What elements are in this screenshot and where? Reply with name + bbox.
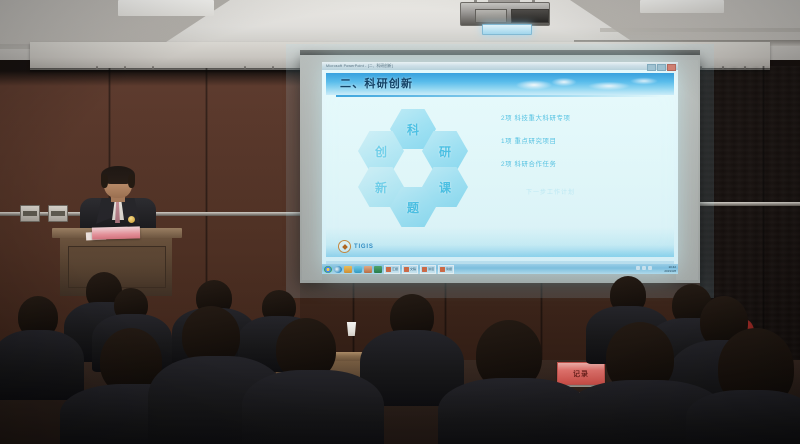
taskbar-task-label: 简报 (446, 267, 452, 271)
minimize-button[interactable] (647, 64, 656, 71)
system-tray[interactable] (636, 266, 652, 270)
window-controls[interactable] (647, 64, 676, 71)
powerpoint-titlebar[interactable]: Microsoft PowerPoint - [二、科研创新] (322, 62, 678, 70)
close-button[interactable] (667, 64, 676, 71)
slide-bullet: 2项 科技重大科研专项 (501, 113, 661, 122)
image-icon[interactable] (364, 266, 372, 273)
media-icon[interactable] (354, 266, 362, 273)
projector-body (460, 2, 550, 26)
slide-faint-note: 下一步工作计划 (526, 187, 575, 196)
presenter-lapel-pin-icon (128, 216, 135, 223)
projector-vent-panel (475, 9, 507, 23)
maximize-button[interactable] (657, 64, 666, 71)
tray-network-icon[interactable] (636, 266, 640, 270)
slide-title-text: 二、科研创新 (340, 75, 413, 91)
taskbar-clock[interactable]: 10:42 2019/3/8 (664, 265, 676, 273)
tray-ime-icon[interactable] (648, 266, 652, 270)
chrome-icon[interactable] (324, 266, 332, 273)
taskbar-task[interactable]: 讲话 (420, 265, 436, 274)
projector-control-panel (511, 9, 549, 23)
taskbar-task[interactable]: 文稿 (402, 265, 418, 274)
edge-icon[interactable] (334, 266, 342, 273)
screen-right-margin (676, 60, 698, 280)
ceiling-projector (452, 0, 556, 34)
clock-date: 2019/3/8 (664, 269, 676, 273)
presenter-hair-side (101, 174, 108, 188)
excel-icon[interactable] (374, 266, 382, 273)
slide-bullet: 1项 重点研究项目 (501, 136, 661, 145)
slide-canvas[interactable]: 二、科研创新 科 创 研 新 课 题 2项 科技重大科研专项 1项 重点研究项目… (326, 71, 674, 257)
taskbar-task[interactable]: 简报 (438, 265, 454, 274)
tray-volume-icon[interactable] (642, 266, 646, 270)
screen-left-margin (302, 60, 322, 280)
wall-outlet (48, 205, 68, 222)
powerpoint-title-text: Microsoft PowerPoint - [二、科研创新] (326, 63, 393, 68)
slide-footer-wave (326, 227, 674, 257)
taskbar-task-label: 汇报 (392, 267, 398, 271)
windows-taskbar[interactable]: 汇报 文稿 讲话 简报 10:42 2019/3/8 (322, 264, 678, 274)
logo-text: TIGIS (354, 244, 374, 250)
placard-text: 记录 (573, 369, 589, 379)
conference-room-photo: Microsoft PowerPoint - [二、科研创新] 二、科研创新 科… (0, 0, 800, 444)
slide-bullet: 2项 科研合作任务 (501, 159, 661, 168)
wall-trim-right (690, 202, 800, 206)
taskbar-task-label: 讲话 (428, 267, 434, 271)
taskbar-task[interactable]: 汇报 (384, 265, 400, 274)
ceiling-light-right (640, 0, 724, 13)
ceiling-light-left (118, 0, 214, 16)
slide-bullet-list: 2项 科技重大科研专项 1项 重点研究项目 2项 科研合作任务 (501, 113, 661, 182)
podium-speech-document (92, 226, 140, 239)
presenter (78, 168, 158, 234)
cloud-graphic (494, 73, 674, 95)
hexagon-diagram: 科 创 研 新 课 题 (354, 109, 474, 217)
slide-title-underline (336, 95, 666, 97)
slide-logo: TIGIS (338, 240, 374, 253)
wall-panel-seam (762, 66, 765, 366)
ceiling-vent-right-upper (600, 28, 800, 32)
projector-lens-glow (482, 24, 532, 35)
projected-powerpoint-window[interactable]: Microsoft PowerPoint - [二、科研创新] 二、科研创新 科… (322, 62, 678, 274)
name-placard: 记录 (557, 362, 605, 385)
explorer-icon[interactable] (344, 266, 352, 273)
presenter-hair-side (128, 174, 135, 188)
wall-outlet (20, 205, 40, 222)
taskbar-task-label: 文稿 (410, 267, 416, 271)
logo-emblem-icon (338, 240, 351, 253)
